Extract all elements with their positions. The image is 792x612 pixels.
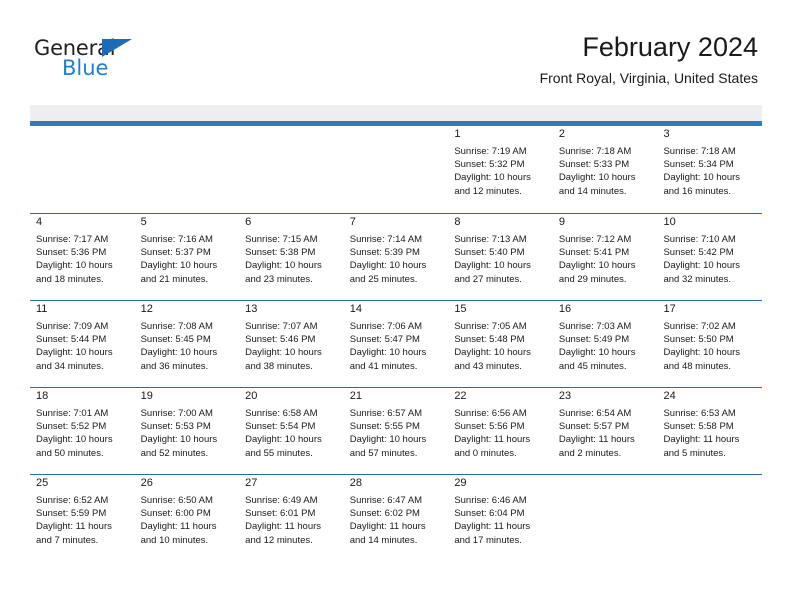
- day-info-line: Daylight: 11 hours: [454, 433, 549, 446]
- day-cell-content: 26Sunrise: 6:50 AMSunset: 6:00 PMDayligh…: [135, 475, 240, 561]
- day-info-line: Sunrise: 7:18 AM: [559, 145, 654, 158]
- day-info-line: Sunset: 5:55 PM: [350, 420, 445, 433]
- day-info-line: Daylight: 10 hours: [36, 259, 131, 272]
- day-sun-info: Sunrise: 7:13 AMSunset: 5:40 PMDaylight:…: [454, 233, 549, 286]
- day-info-line: Sunset: 6:01 PM: [245, 507, 340, 520]
- day-number: 4: [36, 214, 131, 230]
- day-number: 9: [559, 214, 654, 230]
- day-info-line: Daylight: 10 hours: [245, 346, 340, 359]
- day-cell-content: 28Sunrise: 6:47 AMSunset: 6:02 PMDayligh…: [344, 475, 449, 561]
- day-number: 15: [454, 301, 549, 317]
- day-info-line: Sunset: 5:39 PM: [350, 246, 445, 259]
- calendar-day-cell[interactable]: 28Sunrise: 6:47 AMSunset: 6:02 PMDayligh…: [344, 475, 449, 561]
- day-info-line: Sunrise: 7:10 AM: [663, 233, 758, 246]
- day-info-line: Sunset: 5:53 PM: [141, 420, 236, 433]
- calendar-empty-cell: [657, 475, 762, 561]
- day-cell-content: 2Sunrise: 7:18 AMSunset: 5:33 PMDaylight…: [553, 126, 658, 213]
- calendar-day-cell[interactable]: 2Sunrise: 7:18 AMSunset: 5:33 PMDaylight…: [553, 126, 658, 213]
- day-cell-content: 6Sunrise: 7:15 AMSunset: 5:38 PMDaylight…: [239, 214, 344, 300]
- day-info-line: Daylight: 10 hours: [245, 259, 340, 272]
- day-sun-info: Sunrise: 7:05 AMSunset: 5:48 PMDaylight:…: [454, 320, 549, 373]
- day-info-line: and 2 minutes.: [559, 447, 654, 460]
- day-info-line: Daylight: 10 hours: [454, 171, 549, 184]
- day-cell-content: 22Sunrise: 6:56 AMSunset: 5:56 PMDayligh…: [448, 388, 553, 474]
- day-info-line: Daylight: 10 hours: [350, 346, 445, 359]
- calendar-day-cell[interactable]: 9Sunrise: 7:12 AMSunset: 5:41 PMDaylight…: [553, 214, 658, 300]
- day-sun-info: Sunrise: 7:16 AMSunset: 5:37 PMDaylight:…: [141, 233, 236, 286]
- day-number: 2: [559, 126, 654, 142]
- day-sun-info: Sunrise: 6:49 AMSunset: 6:01 PMDaylight:…: [245, 494, 340, 547]
- day-info-line: Sunset: 5:41 PM: [559, 246, 654, 259]
- day-info-line: Sunrise: 7:18 AM: [663, 145, 758, 158]
- page-header: General Blue February 2024 Front Royal, …: [34, 30, 758, 100]
- day-info-line: and 14 minutes.: [350, 534, 445, 547]
- day-sun-info: Sunrise: 6:47 AMSunset: 6:02 PMDaylight:…: [350, 494, 445, 547]
- calendar-day-cell[interactable]: 27Sunrise: 6:49 AMSunset: 6:01 PMDayligh…: [239, 475, 344, 561]
- day-sun-info: Sunrise: 6:46 AMSunset: 6:04 PMDaylight:…: [454, 494, 549, 547]
- day-number: 5: [141, 214, 236, 230]
- calendar-empty-cell: [135, 126, 240, 213]
- calendar-week-row: 18Sunrise: 7:01 AMSunset: 5:52 PMDayligh…: [30, 387, 762, 474]
- day-info-line: Sunrise: 6:56 AM: [454, 407, 549, 420]
- day-cell-content: 20Sunrise: 6:58 AMSunset: 5:54 PMDayligh…: [239, 388, 344, 474]
- day-info-line: and 0 minutes.: [454, 447, 549, 460]
- day-cell-content: 9Sunrise: 7:12 AMSunset: 5:41 PMDaylight…: [553, 214, 658, 300]
- day-info-line: Sunset: 6:04 PM: [454, 507, 549, 520]
- day-number: 18: [36, 388, 131, 404]
- day-info-line: Daylight: 11 hours: [36, 520, 131, 533]
- day-info-line: Daylight: 10 hours: [454, 259, 549, 272]
- day-number: 12: [141, 301, 236, 317]
- day-sun-info: Sunrise: 6:52 AMSunset: 5:59 PMDaylight:…: [36, 494, 131, 547]
- calendar-day-cell[interactable]: 25Sunrise: 6:52 AMSunset: 5:59 PMDayligh…: [30, 475, 135, 561]
- day-cell-content: 21Sunrise: 6:57 AMSunset: 5:55 PMDayligh…: [344, 388, 449, 474]
- day-info-line: Sunrise: 7:05 AM: [454, 320, 549, 333]
- day-info-line: and 7 minutes.: [36, 534, 131, 547]
- day-info-line: Sunset: 5:47 PM: [350, 333, 445, 346]
- day-cell-content: 19Sunrise: 7:00 AMSunset: 5:53 PMDayligh…: [135, 388, 240, 474]
- day-info-line: Sunset: 5:36 PM: [36, 246, 131, 259]
- day-number: 19: [141, 388, 236, 404]
- day-sun-info: Sunrise: 7:02 AMSunset: 5:50 PMDaylight:…: [663, 320, 758, 373]
- day-info-line: and 23 minutes.: [245, 273, 340, 286]
- day-number: 29: [454, 475, 549, 491]
- day-info-line: and 32 minutes.: [663, 273, 758, 286]
- calendar-page: General Blue February 2024 Front Royal, …: [0, 0, 792, 612]
- day-info-line: and 10 minutes.: [141, 534, 236, 547]
- day-cell-content: 17Sunrise: 7:02 AMSunset: 5:50 PMDayligh…: [657, 301, 762, 387]
- title-block: February 2024 Front Royal, Virginia, Uni…: [540, 30, 758, 87]
- calendar-day-cell[interactable]: 17Sunrise: 7:02 AMSunset: 5:50 PMDayligh…: [657, 301, 762, 387]
- day-cell-content: 8Sunrise: 7:13 AMSunset: 5:40 PMDaylight…: [448, 214, 553, 300]
- day-number: 3: [663, 126, 758, 142]
- day-info-line: and 29 minutes.: [559, 273, 654, 286]
- day-info-line: Sunset: 5:54 PM: [245, 420, 340, 433]
- day-number: 13: [245, 301, 340, 317]
- day-cell-content: 14Sunrise: 7:06 AMSunset: 5:47 PMDayligh…: [344, 301, 449, 387]
- day-info-line: Sunrise: 7:01 AM: [36, 407, 131, 420]
- day-info-line: Sunrise: 7:13 AM: [454, 233, 549, 246]
- day-cell-content: 23Sunrise: 6:54 AMSunset: 5:57 PMDayligh…: [553, 388, 658, 474]
- calendar-day-cell[interactable]: 21Sunrise: 6:57 AMSunset: 5:55 PMDayligh…: [344, 388, 449, 474]
- day-number: 28: [350, 475, 445, 491]
- calendar-week-row: 4Sunrise: 7:17 AMSunset: 5:36 PMDaylight…: [30, 213, 762, 300]
- day-info-line: Daylight: 10 hours: [559, 346, 654, 359]
- day-cell-content: 1Sunrise: 7:19 AMSunset: 5:32 PMDaylight…: [448, 126, 553, 213]
- day-info-line: Daylight: 10 hours: [559, 259, 654, 272]
- day-info-line: Sunrise: 7:16 AM: [141, 233, 236, 246]
- day-info-line: Daylight: 11 hours: [454, 520, 549, 533]
- day-info-line: and 16 minutes.: [663, 185, 758, 198]
- day-cell-content: 7Sunrise: 7:14 AMSunset: 5:39 PMDaylight…: [344, 214, 449, 300]
- day-info-line: and 17 minutes.: [454, 534, 549, 547]
- day-info-line: Sunset: 5:45 PM: [141, 333, 236, 346]
- day-info-line: Sunset: 5:58 PM: [663, 420, 758, 433]
- day-info-line: Sunrise: 6:58 AM: [245, 407, 340, 420]
- calendar-day-cell[interactable]: 12Sunrise: 7:08 AMSunset: 5:45 PMDayligh…: [135, 301, 240, 387]
- day-info-line: and 25 minutes.: [350, 273, 445, 286]
- day-sun-info: Sunrise: 7:15 AMSunset: 5:38 PMDaylight:…: [245, 233, 340, 286]
- day-number: 17: [663, 301, 758, 317]
- day-info-line: and 5 minutes.: [663, 447, 758, 460]
- day-info-line: Sunset: 5:32 PM: [454, 158, 549, 171]
- day-sun-info: Sunrise: 6:56 AMSunset: 5:56 PMDaylight:…: [454, 407, 549, 460]
- day-number: 20: [245, 388, 340, 404]
- day-cell-content: 12Sunrise: 7:08 AMSunset: 5:45 PMDayligh…: [135, 301, 240, 387]
- day-info-line: Sunset: 6:00 PM: [141, 507, 236, 520]
- day-info-line: Sunset: 5:57 PM: [559, 420, 654, 433]
- day-cell-content: 27Sunrise: 6:49 AMSunset: 6:01 PMDayligh…: [239, 475, 344, 561]
- day-info-line: Daylight: 10 hours: [663, 346, 758, 359]
- calendar-week-row: 1Sunrise: 7:19 AMSunset: 5:32 PMDaylight…: [30, 126, 762, 213]
- day-info-line: and 45 minutes.: [559, 360, 654, 373]
- logo-text-blue: Blue: [62, 56, 108, 80]
- calendar-day-cell[interactable]: 24Sunrise: 6:53 AMSunset: 5:58 PMDayligh…: [657, 388, 762, 474]
- general-blue-logo: General Blue: [34, 36, 164, 84]
- calendar-day-cell[interactable]: 7Sunrise: 7:14 AMSunset: 5:39 PMDaylight…: [344, 214, 449, 300]
- day-sun-info: Sunrise: 7:09 AMSunset: 5:44 PMDaylight:…: [36, 320, 131, 373]
- calendar-day-cell[interactable]: 10Sunrise: 7:10 AMSunset: 5:42 PMDayligh…: [657, 214, 762, 300]
- day-info-line: Sunrise: 6:50 AM: [141, 494, 236, 507]
- day-info-line: and 27 minutes.: [454, 273, 549, 286]
- day-info-line: Sunrise: 6:54 AM: [559, 407, 654, 420]
- calendar-day-cell[interactable]: 16Sunrise: 7:03 AMSunset: 5:49 PMDayligh…: [553, 301, 658, 387]
- day-sun-info: Sunrise: 7:19 AMSunset: 5:32 PMDaylight:…: [454, 145, 549, 198]
- day-info-line: Daylight: 11 hours: [350, 520, 445, 533]
- day-cell-content: 16Sunrise: 7:03 AMSunset: 5:49 PMDayligh…: [553, 301, 658, 387]
- day-cell-content: [657, 475, 762, 561]
- calendar-day-cell[interactable]: 19Sunrise: 7:00 AMSunset: 5:53 PMDayligh…: [135, 388, 240, 474]
- calendar-day-cell[interactable]: 1Sunrise: 7:19 AMSunset: 5:32 PMDaylight…: [448, 126, 553, 213]
- day-sun-info: Sunrise: 7:18 AMSunset: 5:33 PMDaylight:…: [559, 145, 654, 198]
- day-number: 26: [141, 475, 236, 491]
- day-info-line: Sunrise: 6:47 AM: [350, 494, 445, 507]
- day-sun-info: Sunrise: 7:10 AMSunset: 5:42 PMDaylight:…: [663, 233, 758, 286]
- day-info-line: Sunrise: 6:49 AM: [245, 494, 340, 507]
- day-number: 16: [559, 301, 654, 317]
- day-info-line: and 21 minutes.: [141, 273, 236, 286]
- calendar-day-cell[interactable]: 8Sunrise: 7:13 AMSunset: 5:40 PMDaylight…: [448, 214, 553, 300]
- day-info-line: and 43 minutes.: [454, 360, 549, 373]
- day-cell-content: 24Sunrise: 6:53 AMSunset: 5:58 PMDayligh…: [657, 388, 762, 474]
- day-info-line: and 12 minutes.: [245, 534, 340, 547]
- day-cell-content: 10Sunrise: 7:10 AMSunset: 5:42 PMDayligh…: [657, 214, 762, 300]
- day-number: 23: [559, 388, 654, 404]
- day-info-line: and 36 minutes.: [141, 360, 236, 373]
- day-number: 7: [350, 214, 445, 230]
- day-info-line: and 57 minutes.: [350, 447, 445, 460]
- calendar-day-cell[interactable]: 4Sunrise: 7:17 AMSunset: 5:36 PMDaylight…: [30, 214, 135, 300]
- day-info-line: Sunrise: 7:00 AM: [141, 407, 236, 420]
- day-info-line: Sunrise: 7:06 AM: [350, 320, 445, 333]
- day-cell-content: 3Sunrise: 7:18 AMSunset: 5:34 PMDaylight…: [657, 126, 762, 213]
- day-cell-content: 15Sunrise: 7:05 AMSunset: 5:48 PMDayligh…: [448, 301, 553, 387]
- day-info-line: Daylight: 10 hours: [36, 433, 131, 446]
- day-sun-info: Sunrise: 6:50 AMSunset: 6:00 PMDaylight:…: [141, 494, 236, 547]
- day-info-line: Sunrise: 6:52 AM: [36, 494, 131, 507]
- day-sun-info: Sunrise: 7:14 AMSunset: 5:39 PMDaylight:…: [350, 233, 445, 286]
- day-info-line: Daylight: 10 hours: [141, 259, 236, 272]
- calendar-empty-cell: [239, 126, 344, 213]
- day-number: 25: [36, 475, 131, 491]
- day-number: 22: [454, 388, 549, 404]
- day-sun-info: Sunrise: 7:06 AMSunset: 5:47 PMDaylight:…: [350, 320, 445, 373]
- calendar-day-cell[interactable]: 20Sunrise: 6:58 AMSunset: 5:54 PMDayligh…: [239, 388, 344, 474]
- day-cell-content: 29Sunrise: 6:46 AMSunset: 6:04 PMDayligh…: [448, 475, 553, 561]
- calendar-day-cell[interactable]: 22Sunrise: 6:56 AMSunset: 5:56 PMDayligh…: [448, 388, 553, 474]
- day-info-line: Sunset: 5:33 PM: [559, 158, 654, 171]
- day-cell-content: 11Sunrise: 7:09 AMSunset: 5:44 PMDayligh…: [30, 301, 135, 387]
- day-info-line: Sunrise: 7:15 AM: [245, 233, 340, 246]
- day-number: 8: [454, 214, 549, 230]
- calendar-empty-cell: [553, 475, 658, 561]
- day-info-line: Sunrise: 7:14 AM: [350, 233, 445, 246]
- day-info-line: Sunset: 5:37 PM: [141, 246, 236, 259]
- calendar-day-cell[interactable]: 23Sunrise: 6:54 AMSunset: 5:57 PMDayligh…: [553, 388, 658, 474]
- day-cell-content: 13Sunrise: 7:07 AMSunset: 5:46 PMDayligh…: [239, 301, 344, 387]
- day-cell-content: [553, 475, 658, 561]
- calendar-day-cell[interactable]: 3Sunrise: 7:18 AMSunset: 5:34 PMDaylight…: [657, 126, 762, 213]
- calendar-day-cell[interactable]: 15Sunrise: 7:05 AMSunset: 5:48 PMDayligh…: [448, 301, 553, 387]
- day-info-line: Sunset: 5:42 PM: [663, 246, 758, 259]
- calendar-grid: SundayMondayTuesdayWednesdayThursdayFrid…: [30, 105, 762, 561]
- day-info-line: Daylight: 10 hours: [663, 259, 758, 272]
- day-sun-info: Sunrise: 7:03 AMSunset: 5:49 PMDaylight:…: [559, 320, 654, 373]
- day-info-line: and 55 minutes.: [245, 447, 340, 460]
- day-info-line: Sunrise: 6:57 AM: [350, 407, 445, 420]
- calendar-empty-cell: [30, 126, 135, 213]
- day-info-line: and 38 minutes.: [245, 360, 340, 373]
- calendar-day-cell[interactable]: 5Sunrise: 7:16 AMSunset: 5:37 PMDaylight…: [135, 214, 240, 300]
- day-sun-info: Sunrise: 7:12 AMSunset: 5:41 PMDaylight:…: [559, 233, 654, 286]
- day-number: 10: [663, 214, 758, 230]
- day-number: 21: [350, 388, 445, 404]
- day-info-line: Daylight: 10 hours: [559, 171, 654, 184]
- day-info-line: Daylight: 10 hours: [663, 171, 758, 184]
- day-info-line: Sunrise: 7:03 AM: [559, 320, 654, 333]
- day-info-line: Daylight: 11 hours: [245, 520, 340, 533]
- day-sun-info: Sunrise: 7:18 AMSunset: 5:34 PMDaylight:…: [663, 145, 758, 198]
- calendar-day-cell[interactable]: 14Sunrise: 7:06 AMSunset: 5:47 PMDayligh…: [344, 301, 449, 387]
- day-info-line: and 52 minutes.: [141, 447, 236, 460]
- day-info-line: Sunset: 5:34 PM: [663, 158, 758, 171]
- day-number-band: [30, 105, 762, 121]
- day-info-line: Sunset: 6:02 PM: [350, 507, 445, 520]
- day-cell-content: 5Sunrise: 7:16 AMSunset: 5:37 PMDaylight…: [135, 214, 240, 300]
- day-info-line: Sunrise: 7:02 AM: [663, 320, 758, 333]
- calendar-empty-cell: [344, 126, 449, 213]
- day-info-line: Sunset: 5:46 PM: [245, 333, 340, 346]
- calendar-week-row: 25Sunrise: 6:52 AMSunset: 5:59 PMDayligh…: [30, 474, 762, 561]
- day-cell-content: 25Sunrise: 6:52 AMSunset: 5:59 PMDayligh…: [30, 475, 135, 561]
- day-info-line: and 14 minutes.: [559, 185, 654, 198]
- day-cell-content: 4Sunrise: 7:17 AMSunset: 5:36 PMDaylight…: [30, 214, 135, 300]
- day-info-line: and 12 minutes.: [454, 185, 549, 198]
- day-info-line: Daylight: 10 hours: [141, 433, 236, 446]
- day-info-line: Sunset: 5:48 PM: [454, 333, 549, 346]
- day-info-line: Sunrise: 6:53 AM: [663, 407, 758, 420]
- day-number: 11: [36, 301, 131, 317]
- page-title: February 2024: [540, 30, 758, 64]
- day-info-line: Daylight: 10 hours: [350, 259, 445, 272]
- day-cell-content: [135, 126, 240, 213]
- day-info-line: Sunset: 5:50 PM: [663, 333, 758, 346]
- day-number: 24: [663, 388, 758, 404]
- day-number: 1: [454, 126, 549, 142]
- day-info-line: Daylight: 10 hours: [141, 346, 236, 359]
- day-info-line: and 34 minutes.: [36, 360, 131, 373]
- calendar-day-cell[interactable]: 13Sunrise: 7:07 AMSunset: 5:46 PMDayligh…: [239, 301, 344, 387]
- day-info-line: Daylight: 10 hours: [350, 433, 445, 446]
- day-info-line: and 41 minutes.: [350, 360, 445, 373]
- day-number: 27: [245, 475, 340, 491]
- calendar-day-cell[interactable]: 11Sunrise: 7:09 AMSunset: 5:44 PMDayligh…: [30, 301, 135, 387]
- day-info-line: Sunrise: 7:12 AM: [559, 233, 654, 246]
- day-sun-info: Sunrise: 7:01 AMSunset: 5:52 PMDaylight:…: [36, 407, 131, 460]
- day-info-line: Sunrise: 7:09 AM: [36, 320, 131, 333]
- day-info-line: Daylight: 11 hours: [141, 520, 236, 533]
- day-info-line: Daylight: 10 hours: [454, 346, 549, 359]
- calendar-day-cell[interactable]: 26Sunrise: 6:50 AMSunset: 6:00 PMDayligh…: [135, 475, 240, 561]
- triangle-icon: [102, 39, 132, 57]
- day-info-line: Sunset: 5:38 PM: [245, 246, 340, 259]
- day-cell-content: [239, 126, 344, 213]
- day-info-line: Sunset: 5:49 PM: [559, 333, 654, 346]
- day-info-line: Daylight: 10 hours: [36, 346, 131, 359]
- calendar-weeks: 1Sunrise: 7:19 AMSunset: 5:32 PMDaylight…: [30, 126, 762, 561]
- day-number: 6: [245, 214, 340, 230]
- day-info-line: Daylight: 11 hours: [663, 433, 758, 446]
- day-info-line: and 18 minutes.: [36, 273, 131, 286]
- day-info-line: Daylight: 10 hours: [245, 433, 340, 446]
- day-info-line: Sunrise: 7:08 AM: [141, 320, 236, 333]
- calendar-day-cell[interactable]: 18Sunrise: 7:01 AMSunset: 5:52 PMDayligh…: [30, 388, 135, 474]
- day-sun-info: Sunrise: 6:54 AMSunset: 5:57 PMDaylight:…: [559, 407, 654, 460]
- page-subtitle: Front Royal, Virginia, United States: [540, 70, 758, 87]
- day-sun-info: Sunrise: 6:53 AMSunset: 5:58 PMDaylight:…: [663, 407, 758, 460]
- day-info-line: and 50 minutes.: [36, 447, 131, 460]
- calendar-week-row: 11Sunrise: 7:09 AMSunset: 5:44 PMDayligh…: [30, 300, 762, 387]
- day-number: 14: [350, 301, 445, 317]
- day-cell-content: 18Sunrise: 7:01 AMSunset: 5:52 PMDayligh…: [30, 388, 135, 474]
- day-info-line: and 48 minutes.: [663, 360, 758, 373]
- day-info-line: Sunrise: 6:46 AM: [454, 494, 549, 507]
- day-info-line: Sunset: 5:52 PM: [36, 420, 131, 433]
- day-info-line: Sunrise: 7:17 AM: [36, 233, 131, 246]
- day-info-line: Sunset: 5:44 PM: [36, 333, 131, 346]
- day-info-line: Sunrise: 7:07 AM: [245, 320, 340, 333]
- day-info-line: Sunset: 5:40 PM: [454, 246, 549, 259]
- day-sun-info: Sunrise: 7:07 AMSunset: 5:46 PMDaylight:…: [245, 320, 340, 373]
- day-cell-content: [344, 126, 449, 213]
- day-info-line: Sunset: 5:59 PM: [36, 507, 131, 520]
- calendar-day-cell[interactable]: 6Sunrise: 7:15 AMSunset: 5:38 PMDaylight…: [239, 214, 344, 300]
- day-info-line: Daylight: 11 hours: [559, 433, 654, 446]
- day-cell-content: [30, 126, 135, 213]
- day-sun-info: Sunrise: 7:00 AMSunset: 5:53 PMDaylight:…: [141, 407, 236, 460]
- day-sun-info: Sunrise: 7:08 AMSunset: 5:45 PMDaylight:…: [141, 320, 236, 373]
- day-sun-info: Sunrise: 7:17 AMSunset: 5:36 PMDaylight:…: [36, 233, 131, 286]
- calendar-day-cell[interactable]: 29Sunrise: 6:46 AMSunset: 6:04 PMDayligh…: [448, 475, 553, 561]
- day-sun-info: Sunrise: 6:57 AMSunset: 5:55 PMDaylight:…: [350, 407, 445, 460]
- day-info-line: Sunset: 5:56 PM: [454, 420, 549, 433]
- day-sun-info: Sunrise: 6:58 AMSunset: 5:54 PMDaylight:…: [245, 407, 340, 460]
- day-info-line: Sunrise: 7:19 AM: [454, 145, 549, 158]
